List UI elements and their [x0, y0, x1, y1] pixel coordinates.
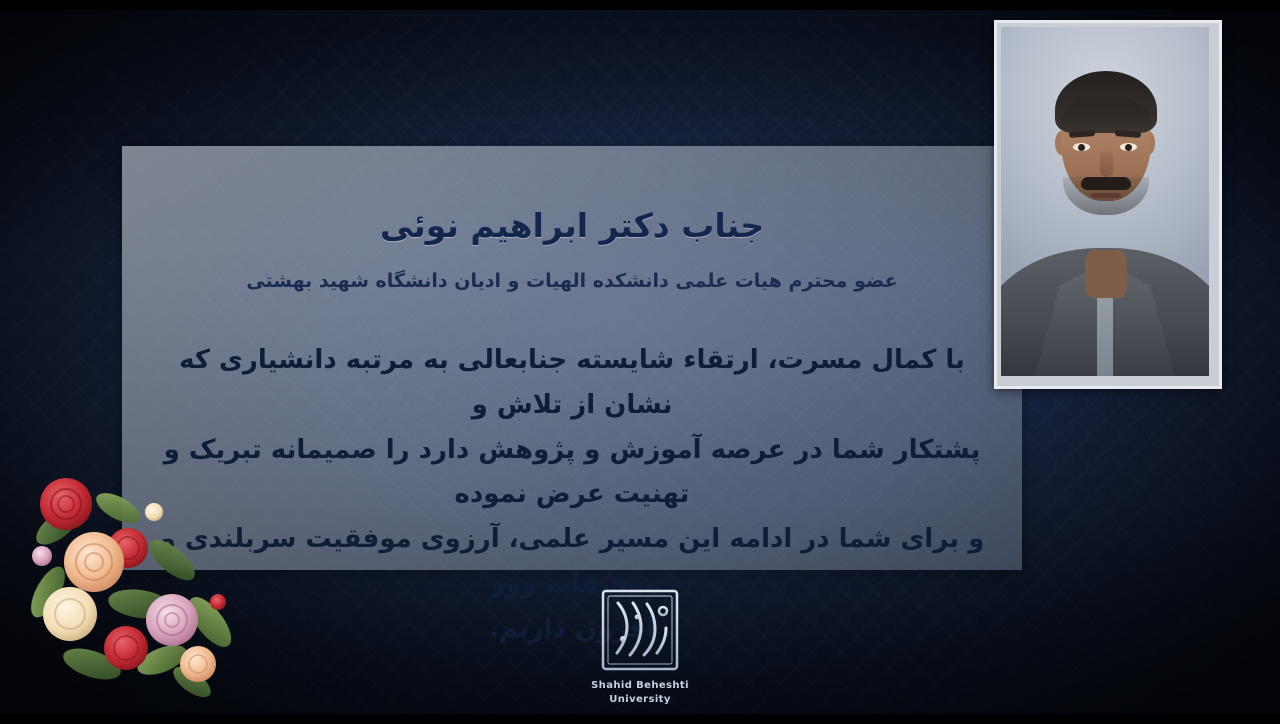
portrait-mouth: [1091, 193, 1121, 198]
portrait-nose: [1100, 151, 1113, 177]
university-name: Shahid Beheshti University: [540, 679, 740, 706]
floral-bouquet-decoration: [22, 452, 262, 702]
portrait-photo: عکس پرسنلی جناب دکتر ابراهیم نوئی: [1001, 27, 1209, 376]
portrait-frame: عکس پرسنلی جناب دکتر ابراهیم نوئی: [994, 20, 1222, 389]
portrait-eye-left: [1073, 143, 1090, 151]
letterbox-bottom: [0, 714, 1280, 724]
honoree-affiliation: عضو محترم هیات علمی دانشکده الهیات و ادی…: [122, 246, 1022, 295]
university-logo: Shahid Beheshti University: [540, 587, 740, 706]
university-seal-icon: [597, 587, 683, 673]
university-name-line-2: University: [540, 693, 740, 707]
portrait-eye-right: [1120, 143, 1137, 151]
portrait-moustache: [1081, 177, 1131, 190]
body-line-1: با کمال مسرت، ارتقاء شایسته جنابعالی به …: [157, 338, 987, 427]
body-line-2: پشتکار شما در عرصه آموزش و پژوهش دارد را…: [157, 428, 987, 517]
university-name-line-1: Shahid Beheshti: [540, 679, 740, 693]
slide-canvas: جناب دکتر ابراهیم نوئی عضو محترم هیات عل…: [0, 0, 1280, 724]
honoree-name: جناب دکتر ابراهیم نوئی: [122, 146, 1022, 246]
letterbox-top: [0, 0, 1280, 10]
portrait-neck: [1085, 250, 1127, 298]
